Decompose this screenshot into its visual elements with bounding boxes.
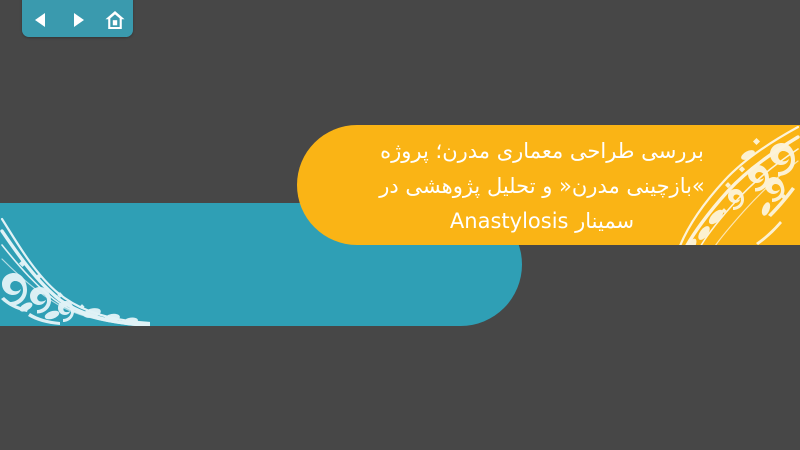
triangle-right-icon [68, 10, 88, 30]
house-icon [104, 9, 126, 31]
presentation-slide: بررسی طراحی معماری مدرن؛ پروژه »بازچینی … [0, 0, 800, 450]
home-slide-button[interactable] [104, 9, 126, 31]
arabesque-ornament-yellow [670, 125, 800, 245]
triangle-left-icon [31, 10, 51, 30]
yellow-title-banner [297, 125, 800, 245]
slide-navigation-bar [22, 0, 133, 37]
next-slide-button[interactable] [67, 9, 89, 31]
previous-slide-button[interactable] [30, 9, 52, 31]
arabesque-ornament-teal [0, 203, 150, 326]
